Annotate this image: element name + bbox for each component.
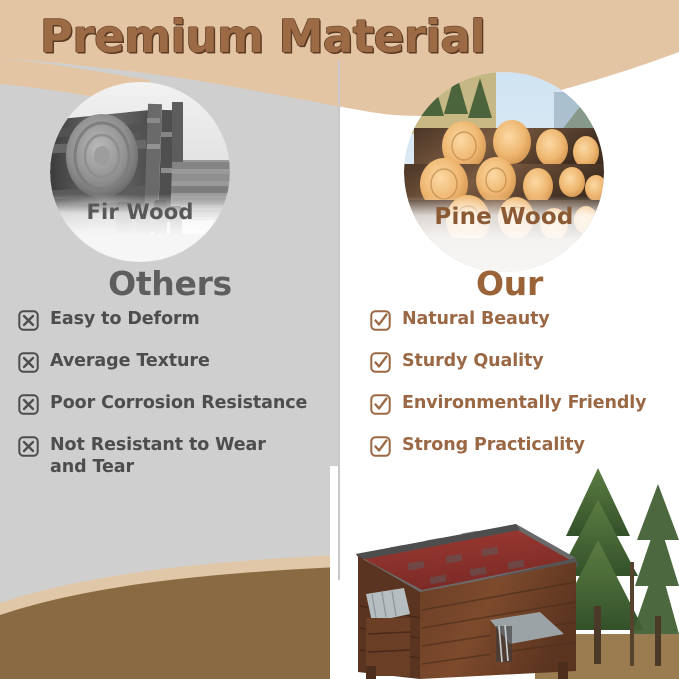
list-item: Environmentally Friendly xyxy=(370,393,675,415)
check-box-icon xyxy=(370,394,391,415)
our-heading: Our xyxy=(340,264,679,303)
list-item-label: Poor Corrosion Resistance xyxy=(50,393,307,415)
infographic-root: Premium Material xyxy=(0,0,679,679)
list-item: Natural Beauty xyxy=(370,309,675,331)
fir-wood-label: Fir Wood xyxy=(50,194,230,262)
x-box-icon xyxy=(18,310,39,331)
list-item-label: Strong Practicality xyxy=(402,435,585,457)
x-box-icon xyxy=(18,436,39,457)
check-box-icon xyxy=(370,352,391,373)
list-item: Sturdy Quality xyxy=(370,351,675,373)
x-box-icon xyxy=(18,352,39,373)
list-item-label: Not Resistant to Wear and Tear xyxy=(50,435,290,478)
list-item-label: Average Texture xyxy=(50,351,210,373)
chicken-coop-photo xyxy=(330,466,679,679)
list-item: Easy to Deform xyxy=(18,309,338,331)
list-item: Not Resistant to Wear and Tear xyxy=(18,435,338,478)
list-item: Poor Corrosion Resistance xyxy=(18,393,338,415)
our-feature-list: Natural Beauty Sturdy Quality Environmen… xyxy=(370,309,675,477)
list-item: Strong Practicality xyxy=(370,435,675,457)
pine-wood-label: Pine Wood xyxy=(404,196,604,272)
others-feature-list: Easy to Deform Average Texture Poor Co xyxy=(18,309,338,498)
check-box-icon xyxy=(370,310,391,331)
list-item-label: Environmentally Friendly xyxy=(402,393,647,415)
list-item: Average Texture xyxy=(18,351,338,373)
list-item-label: Easy to Deform xyxy=(50,309,200,331)
others-heading: Others xyxy=(0,264,340,303)
page-title: Premium Material xyxy=(40,10,600,63)
check-box-icon xyxy=(370,436,391,457)
list-item-label: Sturdy Quality xyxy=(402,351,544,373)
fir-wood-circle: Fir Wood xyxy=(50,82,230,262)
column-divider xyxy=(338,60,340,580)
pine-wood-circle: Pine Wood xyxy=(404,72,604,272)
list-item-label: Natural Beauty xyxy=(402,309,550,331)
x-box-icon xyxy=(18,394,39,415)
